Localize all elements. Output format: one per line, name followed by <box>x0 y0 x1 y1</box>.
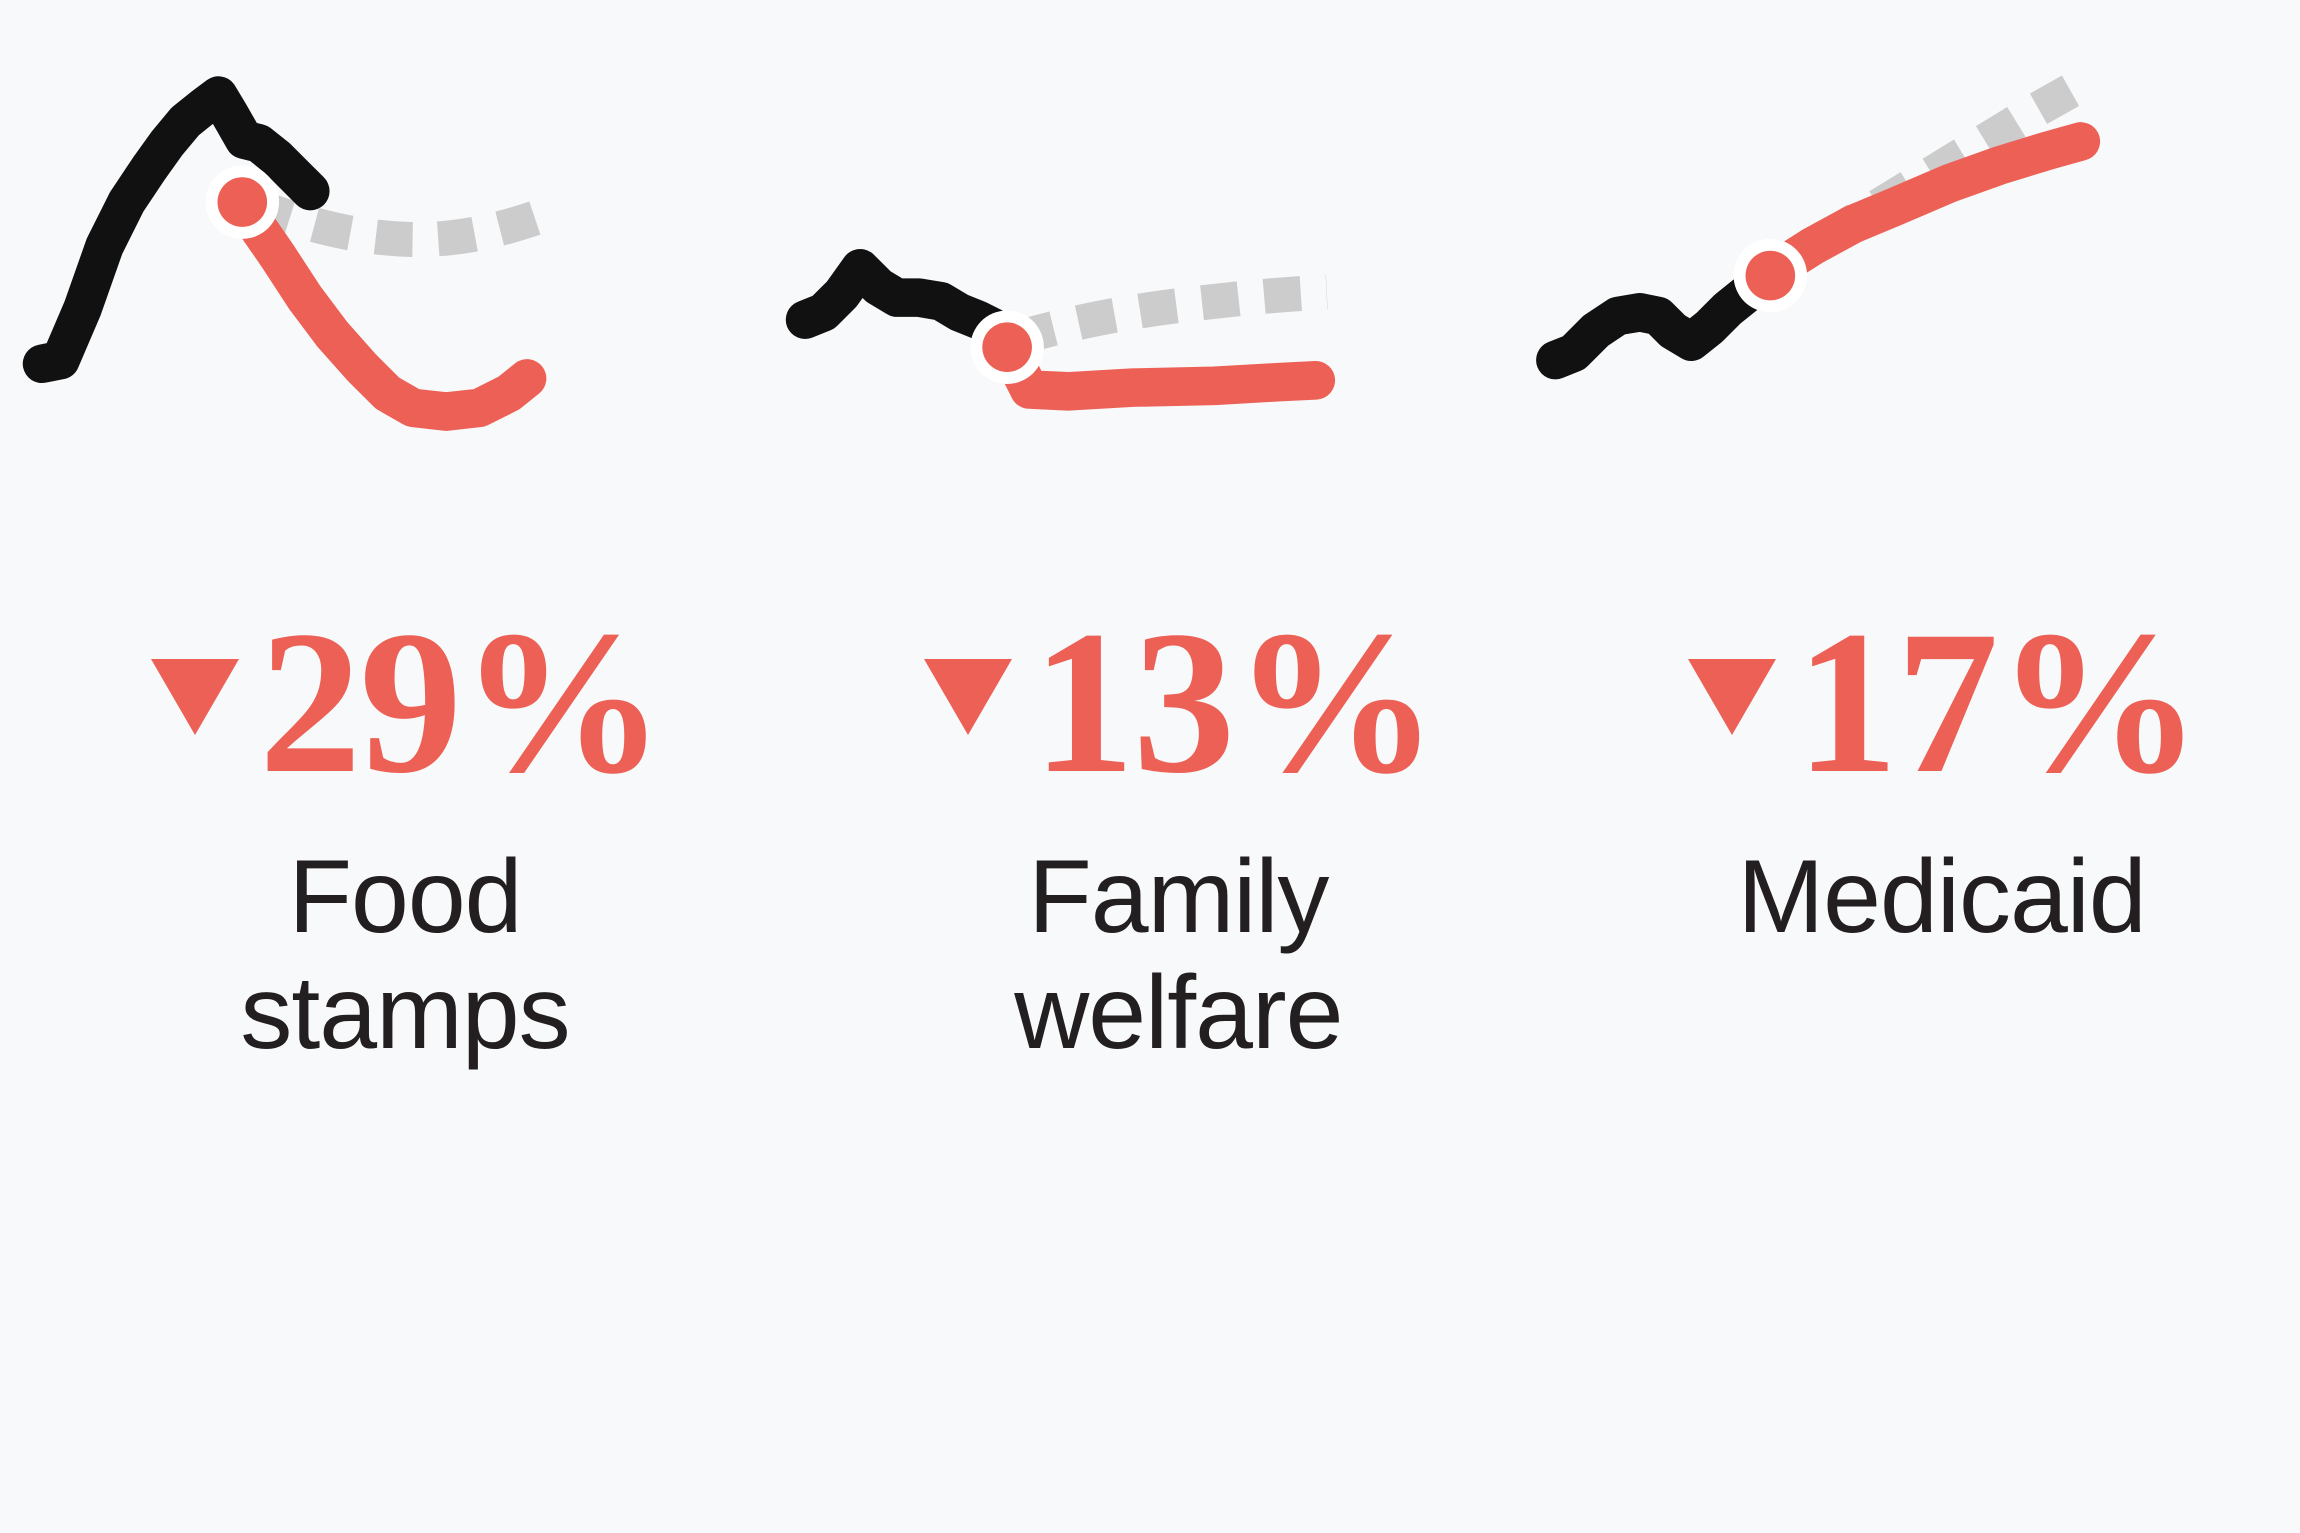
marker-dot-medicaid <box>1745 251 1795 301</box>
change-row-food-stamps: 29% <box>10 600 800 805</box>
stat-block-medicaid: 17% Medicaid <box>1547 600 2300 955</box>
historic-line-family-welfare <box>805 268 1003 341</box>
program-label-medicaid: Medicaid <box>1547 839 2300 955</box>
program-label-food-stamps: Food stamps <box>10 839 800 1072</box>
change-percent-food-stamps: 29% <box>259 600 663 805</box>
program-label-line-2: stamps <box>10 955 800 1071</box>
stat-panel-family-welfare: 13% Family welfare <box>763 0 1536 1533</box>
sparkline-medicaid <box>1537 0 2300 560</box>
infographic-root: 29% Food stamps <box>0 0 2300 1533</box>
change-percent-family-welfare: 13% <box>1032 600 1436 805</box>
projection-line-family-welfare <box>1018 292 1327 338</box>
sparkline-svg-family-welfare <box>783 0 1573 560</box>
down-arrow-icon <box>920 653 1016 741</box>
panel-row: 29% Food stamps <box>0 0 2300 1533</box>
change-percent-medicaid: 17% <box>1796 600 2200 805</box>
down-arrow-icon <box>1684 653 1780 741</box>
sparkline-svg-food-stamps <box>20 0 810 560</box>
marker-dot-food-stamps <box>218 177 268 227</box>
stat-panel-medicaid: 17% Medicaid <box>1527 0 2300 1533</box>
program-label-line-2: welfare <box>783 955 1573 1071</box>
down-arrow-icon <box>147 653 243 741</box>
historic-line-medicaid <box>1555 279 1761 360</box>
program-label-line-1: Food <box>10 839 800 955</box>
program-label-family-welfare: Family welfare <box>783 839 1573 1072</box>
sparkline-svg-medicaid <box>1537 0 2300 560</box>
sparkline-family-welfare <box>783 0 1573 560</box>
marker-dot-family-welfare <box>983 322 1033 372</box>
program-label-line-1: Family <box>783 839 1573 955</box>
actual-line-family-welfare <box>1015 360 1316 391</box>
change-row-family-welfare: 13% <box>783 600 1573 805</box>
stat-block-family-welfare: 13% Family welfare <box>783 600 1573 1072</box>
program-label-line-1: Medicaid <box>1547 839 2300 955</box>
stat-block-food-stamps: 29% Food stamps <box>10 600 800 1072</box>
stat-panel-food-stamps: 29% Food stamps <box>0 0 773 1533</box>
change-row-medicaid: 17% <box>1547 600 2300 805</box>
sparkline-food-stamps <box>20 0 810 560</box>
projection-line-food-stamps <box>255 206 549 240</box>
